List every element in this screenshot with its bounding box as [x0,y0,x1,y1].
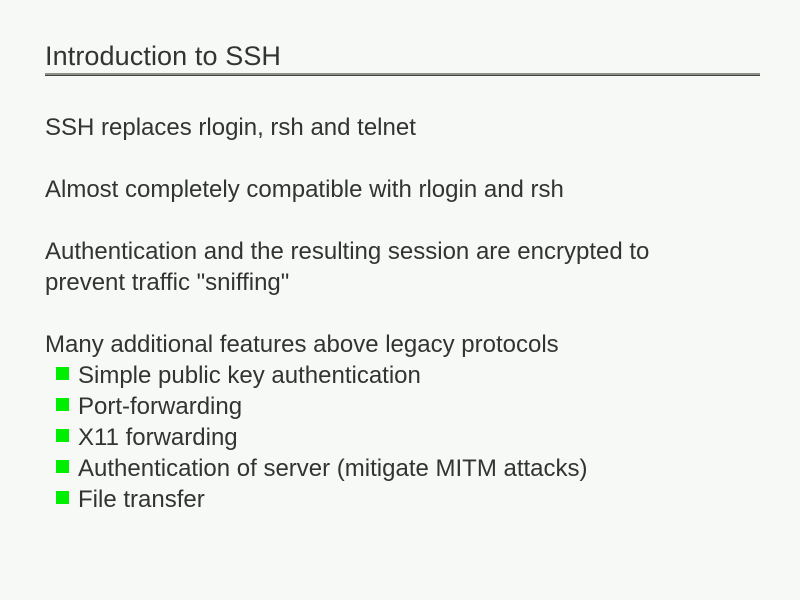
paragraph-4: Many additional features above legacy pr… [45,329,735,360]
square-bullet-icon [56,367,69,380]
slide: Introduction to SSH SSH replaces rlogin,… [0,0,800,600]
list-item: Simple public key authentication [56,360,760,391]
paragraph-1: SSH replaces rlogin, rsh and telnet [45,112,735,143]
list-item: Authentication of server (mitigate MITM … [56,453,760,484]
list-item: Port-forwarding [56,391,760,422]
list-item-label: Simple public key authentication [78,360,760,391]
title-divider [45,73,760,76]
list-item-label: File transfer [78,484,760,515]
page-title: Introduction to SSH [45,40,281,73]
list-item-label: X11 forwarding [78,422,760,453]
paragraph-3: Authentication and the resulting session… [45,236,735,298]
square-bullet-icon [56,491,69,504]
feature-bullet-list: Simple public key authentication Port-fo… [45,360,760,515]
list-item: X11 forwarding [56,422,760,453]
list-item-label: Port-forwarding [78,391,760,422]
square-bullet-icon [56,429,69,442]
square-bullet-icon [56,398,69,411]
slide-body: SSH replaces rlogin, rsh and telnet Almo… [45,112,760,515]
list-item-label: Authentication of server (mitigate MITM … [78,453,760,484]
square-bullet-icon [56,460,69,473]
paragraph-2: Almost completely compatible with rlogin… [45,174,735,205]
list-item: File transfer [56,484,760,515]
